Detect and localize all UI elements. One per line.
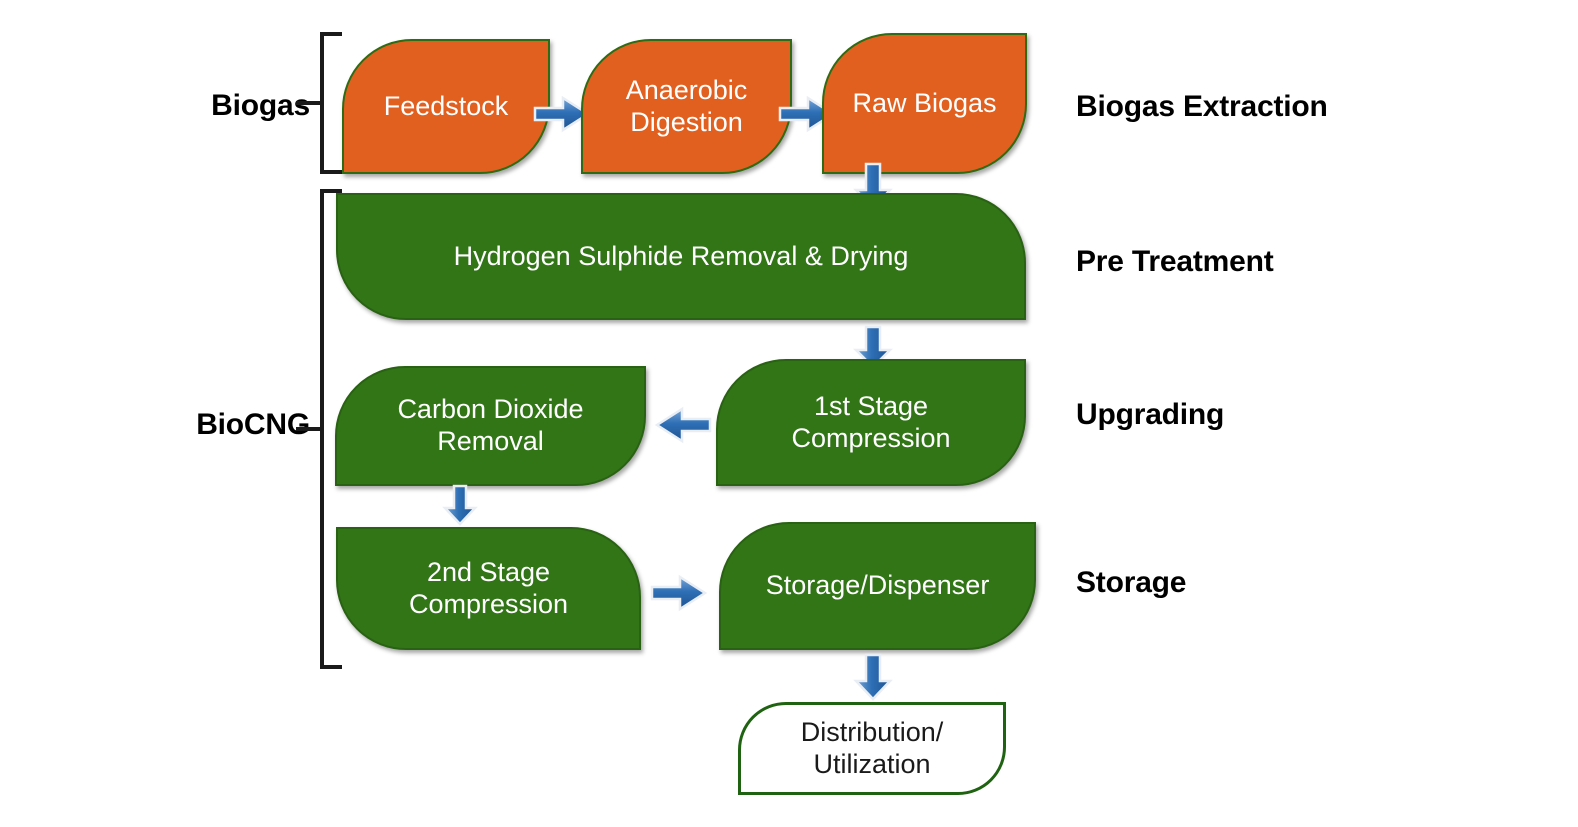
- group-label-biocng: BioCNG: [178, 408, 310, 442]
- node-distribution-utilization[interactable]: Distribution/ Utilization: [738, 702, 1006, 795]
- diagram-canvas: Biogas BioCNG Feedstock A: [0, 0, 1578, 827]
- node-raw-biogas-label: Raw Biogas: [852, 88, 996, 120]
- stage-label-upgrading: Upgrading: [1076, 398, 1224, 432]
- node-carbon-dioxide-removal-label: Carbon Dioxide Removal: [397, 394, 583, 458]
- bracket-biocng-line: [320, 189, 324, 669]
- bracket-biogas-tick: [296, 101, 320, 105]
- stage-label-biogas-extraction: Biogas Extraction: [1076, 90, 1328, 124]
- node-storage-dispenser-label: Storage/Dispenser: [766, 570, 990, 602]
- bracket-biogas: [320, 32, 342, 174]
- node-1st-stage-compression[interactable]: 1st Stage Compression: [716, 359, 1026, 486]
- bracket-biocng-tick: [296, 427, 320, 431]
- stage-label-pre-treatment: Pre Treatment: [1076, 245, 1273, 279]
- node-carbon-dioxide-removal[interactable]: Carbon Dioxide Removal: [335, 366, 646, 486]
- arrow-storage-to-distribution: [853, 653, 893, 701]
- node-anaerobic-digestion[interactable]: Anaerobic Digestion: [581, 39, 792, 174]
- node-hydrogen-sulphide-removal[interactable]: Hydrogen Sulphide Removal & Drying: [336, 193, 1026, 320]
- stage-label-storage: Storage: [1076, 566, 1186, 600]
- arrow-co2-to-stage2: [442, 484, 478, 526]
- node-storage-dispenser[interactable]: Storage/Dispenser: [719, 522, 1036, 650]
- node-1st-stage-compression-label: 1st Stage Compression: [791, 391, 950, 455]
- node-hydrogen-sulphide-removal-label: Hydrogen Sulphide Removal & Drying: [454, 241, 909, 273]
- bracket-biocng-cap-bottom: [320, 665, 342, 669]
- node-anaerobic-digestion-label: Anaerobic Digestion: [626, 75, 748, 139]
- node-distribution-utilization-label: Distribution/ Utilization: [801, 717, 944, 781]
- node-2nd-stage-compression-label: 2nd Stage Compression: [409, 557, 568, 621]
- bracket-biogas-cap-top: [320, 32, 342, 36]
- group-label-biogas: Biogas: [190, 89, 310, 123]
- bracket-biogas-line: [320, 32, 324, 174]
- node-raw-biogas[interactable]: Raw Biogas: [822, 33, 1027, 174]
- bracket-biogas-cap-bottom: [320, 170, 342, 174]
- node-2nd-stage-compression[interactable]: 2nd Stage Compression: [336, 527, 641, 650]
- node-feedstock[interactable]: Feedstock: [342, 39, 550, 174]
- arrow-stage1-to-co2: [654, 405, 712, 445]
- node-feedstock-label: Feedstock: [384, 91, 509, 123]
- arrow-stage2-to-storage: [650, 573, 708, 613]
